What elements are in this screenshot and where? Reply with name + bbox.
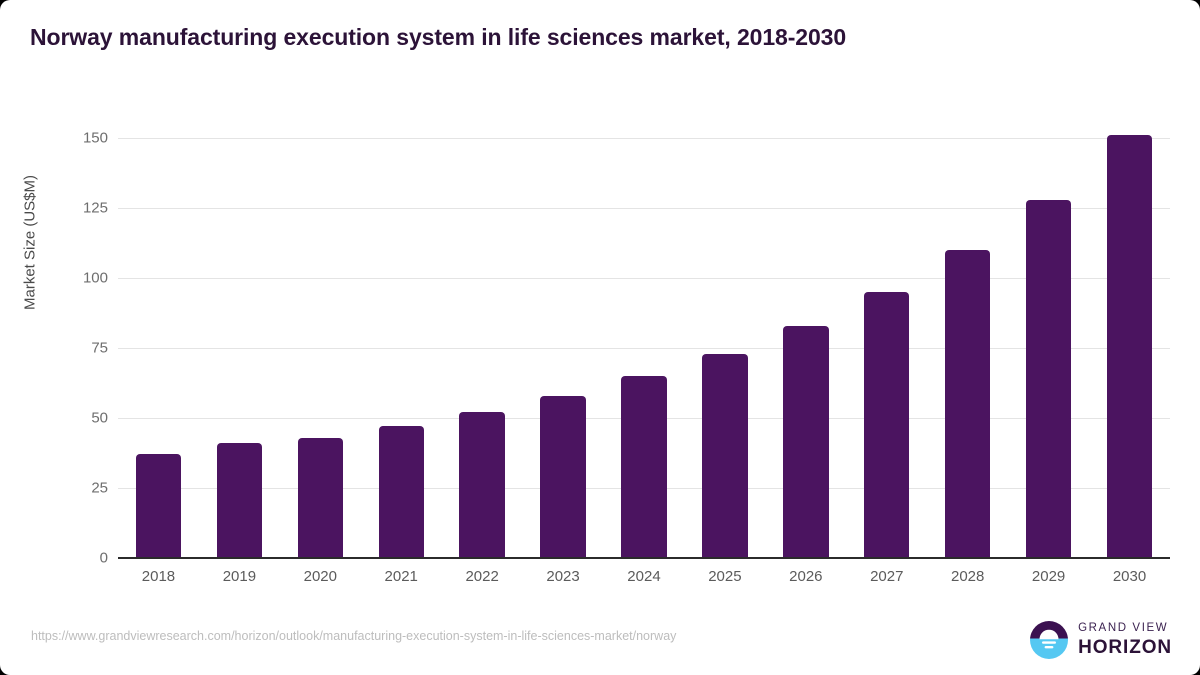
bar-2025[interactable]: [702, 354, 747, 558]
x-tick-label: 2028: [927, 568, 1008, 585]
x-axis-line: [118, 557, 1170, 559]
x-tick-label: 2020: [280, 568, 361, 585]
gridline: [118, 138, 1170, 139]
page-title: Norway manufacturing execution system in…: [30, 24, 846, 51]
bar-2019[interactable]: [217, 443, 262, 558]
bar-2029[interactable]: [1026, 200, 1071, 558]
x-tick-label: 2029: [1008, 568, 1089, 585]
y-axis-ticks: 0255075100125150: [34, 110, 108, 558]
brand-logo: GRAND VIEW HORIZON: [1029, 619, 1172, 661]
bar-2023[interactable]: [540, 396, 585, 558]
bar-2021[interactable]: [379, 426, 424, 558]
plot-area: [118, 110, 1170, 558]
x-tick-label: 2027: [846, 568, 927, 585]
bar-2026[interactable]: [783, 326, 828, 558]
bar-2024[interactable]: [621, 376, 666, 558]
x-tick-label: 2019: [199, 568, 280, 585]
logo-wordmark: GRAND VIEW HORIZON: [1078, 623, 1172, 657]
gridline: [118, 208, 1170, 209]
chart-canvas: Norway manufacturing execution system in…: [0, 0, 1200, 675]
x-tick-label: 2030: [1089, 568, 1170, 585]
y-tick-label: 25: [44, 480, 108, 497]
gridline: [118, 278, 1170, 279]
bar-2027[interactable]: [864, 292, 909, 558]
bar-2028[interactable]: [945, 250, 990, 558]
x-tick-label: 2021: [361, 568, 442, 585]
bar-2022[interactable]: [459, 412, 504, 558]
bar-2018[interactable]: [136, 454, 181, 558]
y-tick-label: 100: [44, 270, 108, 287]
bar-2020[interactable]: [298, 438, 343, 558]
y-tick-label: 150: [44, 130, 108, 147]
bar-2030[interactable]: [1107, 135, 1152, 558]
source-url[interactable]: https://www.grandviewresearch.com/horizo…: [31, 629, 676, 643]
x-axis-ticks: 2018201920202021202220232024202520262027…: [118, 568, 1170, 594]
x-tick-label: 2025: [684, 568, 765, 585]
x-tick-label: 2026: [765, 568, 846, 585]
x-tick-label: 2018: [118, 568, 199, 585]
gridline: [118, 348, 1170, 349]
horizon-circle-icon: [1029, 620, 1069, 660]
x-tick-label: 2022: [442, 568, 523, 585]
y-tick-label: 50: [44, 410, 108, 427]
y-tick-label: 125: [44, 200, 108, 217]
logo-line-grandview: GRAND VIEW: [1078, 623, 1172, 635]
y-tick-label: 75: [44, 340, 108, 357]
logo-line-horizon: HORIZON: [1078, 638, 1172, 657]
x-tick-label: 2023: [523, 568, 604, 585]
x-tick-label: 2024: [604, 568, 685, 585]
y-tick-label: 0: [44, 550, 108, 567]
